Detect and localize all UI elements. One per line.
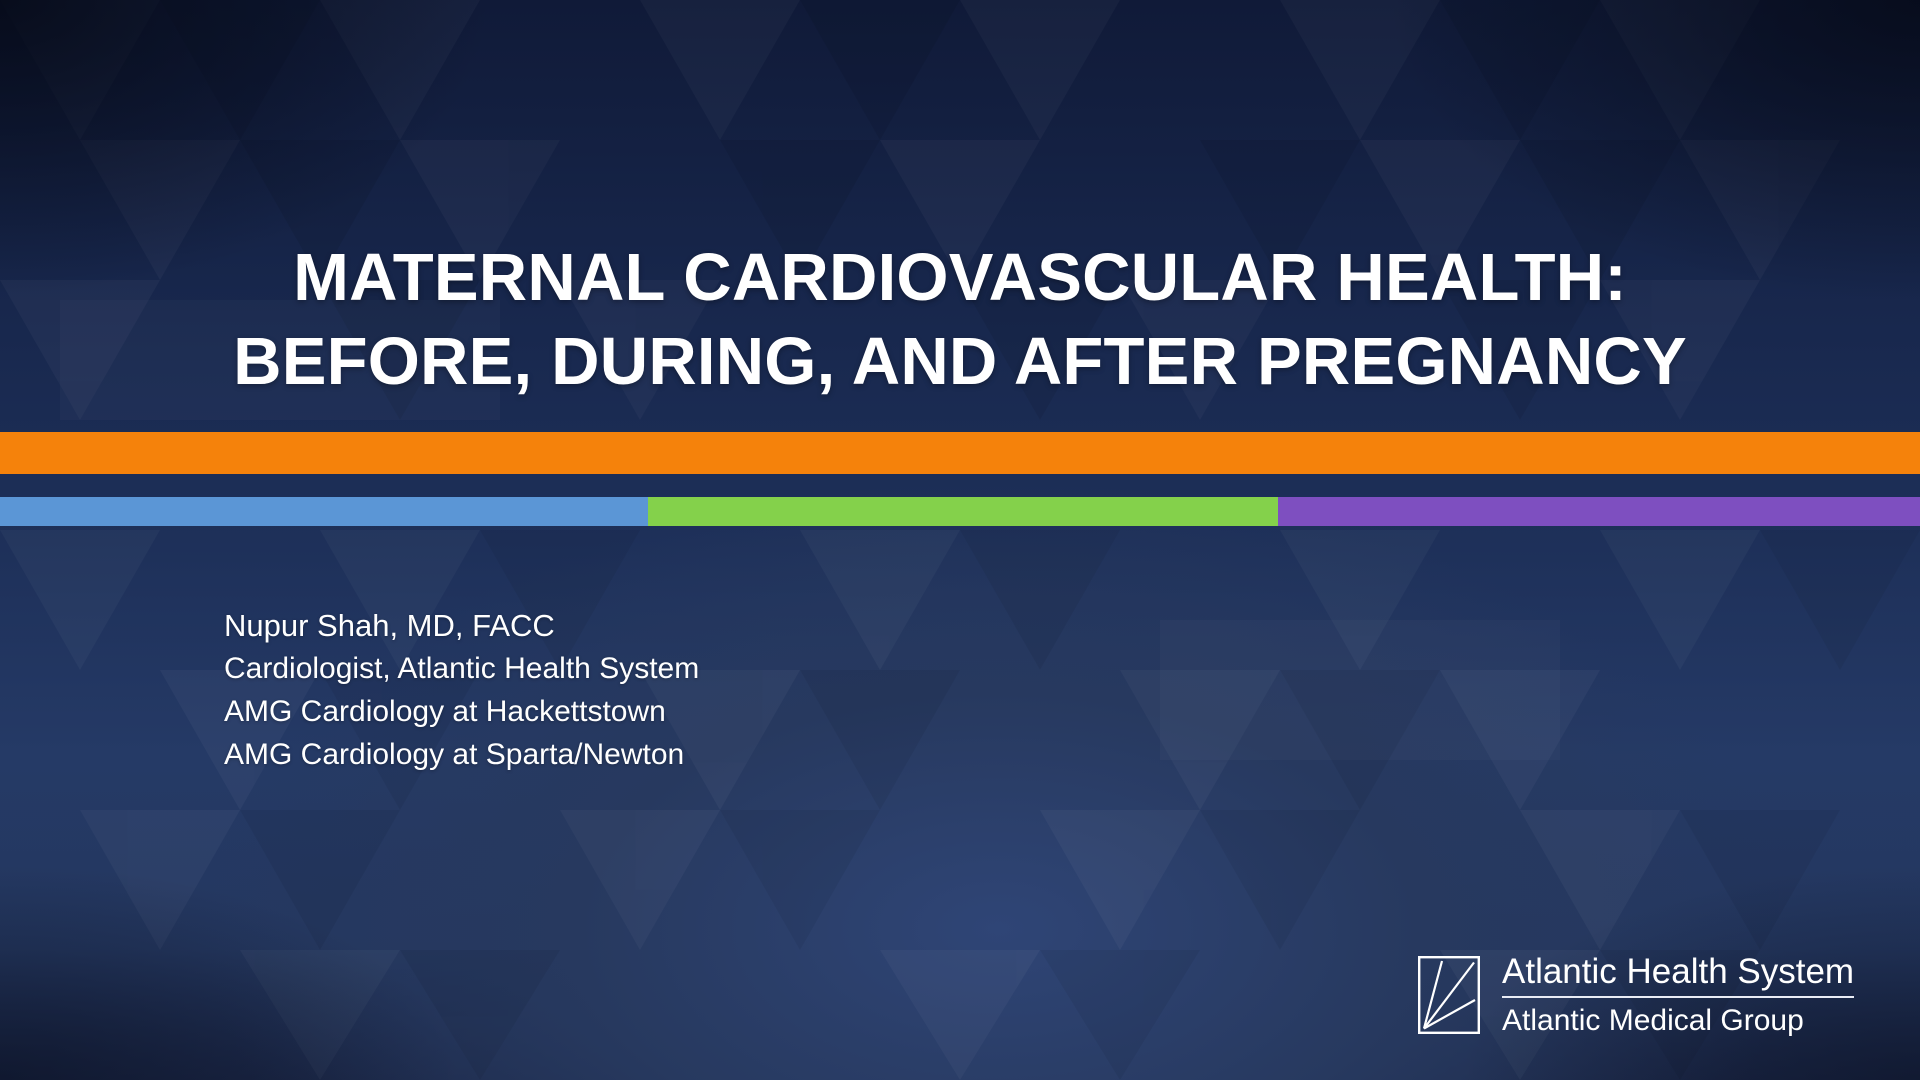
- page-title: MATERNAL CARDIOVASCULAR HEALTH: BEFORE, …: [0, 236, 1920, 404]
- presenter-practice-2: AMG Cardiology at Sparta/Newton: [224, 733, 699, 776]
- presenter-role: Cardiologist, Atlantic Health System: [224, 647, 699, 690]
- accent-segment-blue: [0, 497, 648, 526]
- orange-accent-bar: [0, 432, 1920, 474]
- title-line-2: BEFORE, DURING, AND AFTER PREGNANCY: [120, 320, 1800, 404]
- tricolor-accent-bar: [0, 497, 1920, 526]
- atlantic-health-logo: Atlantic Health System Atlantic Medical …: [1418, 952, 1854, 1038]
- atlantic-health-logo-icon: [1418, 956, 1480, 1034]
- accent-segment-green: [648, 497, 1278, 526]
- presenter-name: Nupur Shah, MD, FACC: [224, 604, 699, 647]
- corner-vignette: [0, 0, 1920, 1080]
- title-line-1: MATERNAL CARDIOVASCULAR HEALTH:: [120, 236, 1800, 320]
- title-slide: MATERNAL CARDIOVASCULAR HEALTH: BEFORE, …: [0, 0, 1920, 1080]
- accent-segment-purple: [1278, 497, 1920, 526]
- logo-divider-rule: [1502, 996, 1854, 998]
- presenter-practice-1: AMG Cardiology at Hackettstown: [224, 690, 699, 733]
- logo-organization: Atlantic Health System: [1502, 952, 1854, 992]
- logo-division: Atlantic Medical Group: [1502, 1003, 1854, 1038]
- presenter-byline: Nupur Shah, MD, FACC Cardiologist, Atlan…: [224, 604, 699, 776]
- logo-wordmark: Atlantic Health System Atlantic Medical …: [1502, 952, 1854, 1038]
